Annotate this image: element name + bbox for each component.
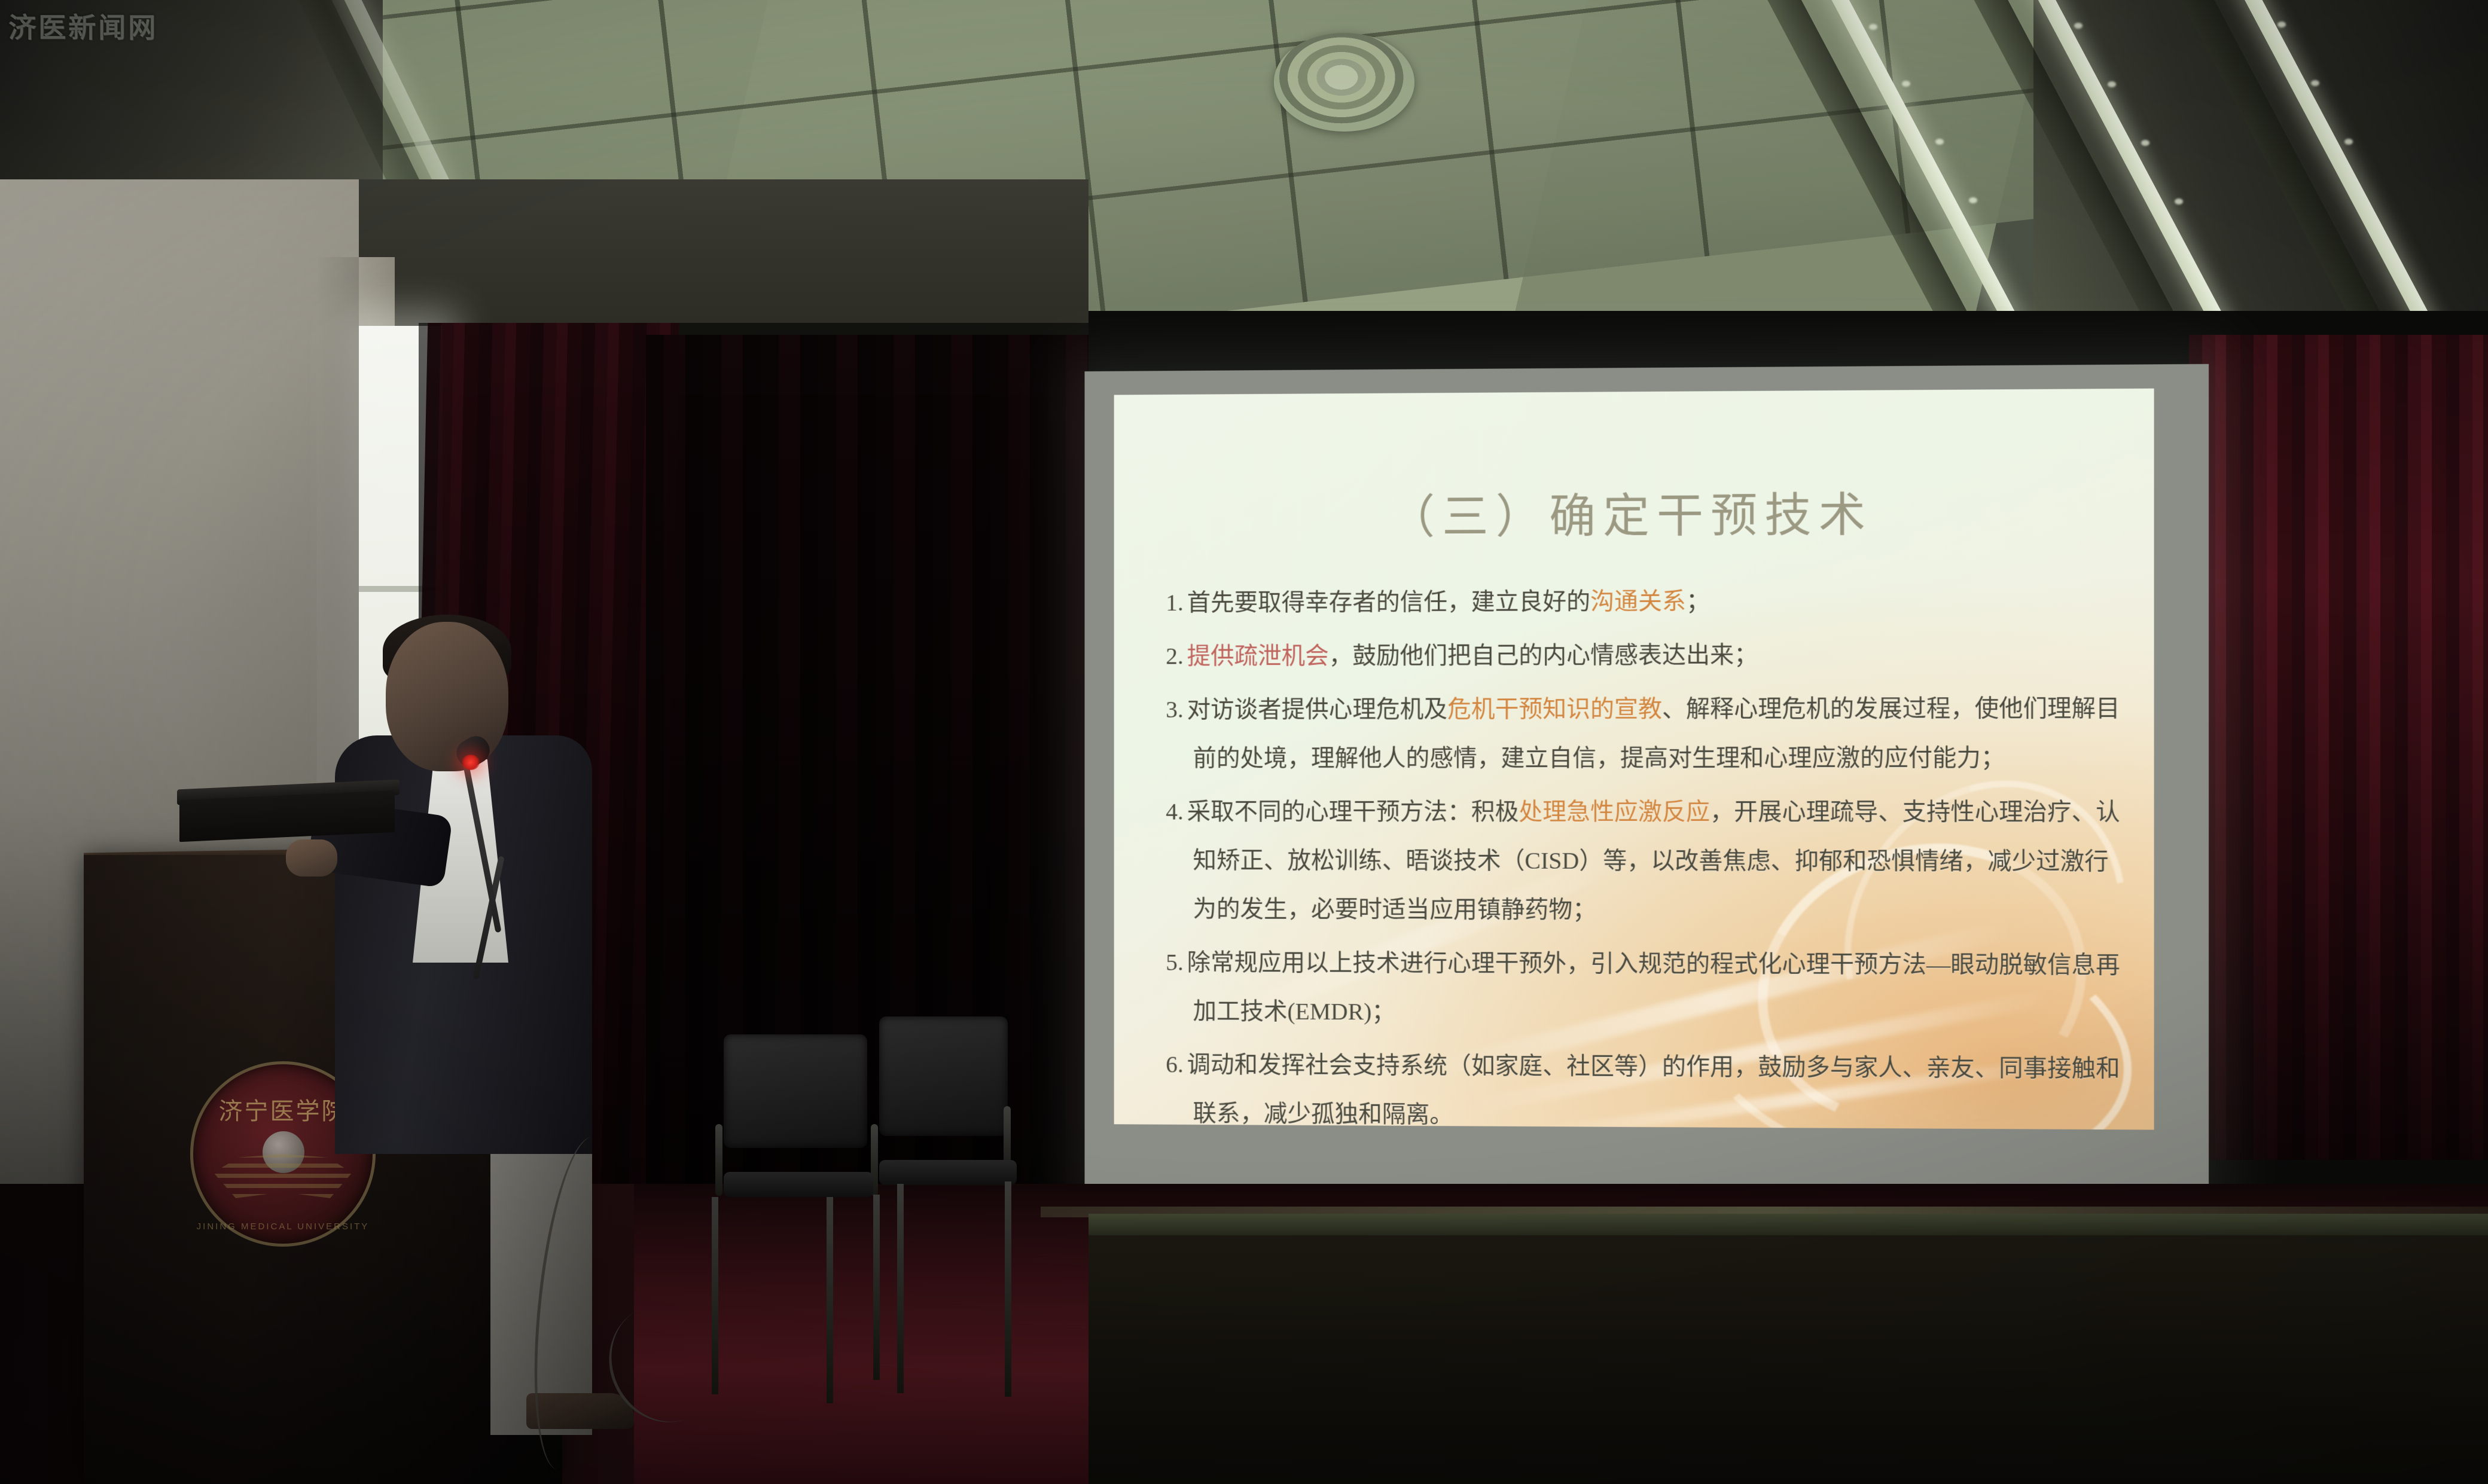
slide-text: 调动和发挥社会支持系统（如家庭、社区等）的作用，鼓励多与家人、亲友、同事接触和 [1187,1051,2120,1082]
slide-bullet-line: 知矫正、放松训练、晤谈技术（CISD）等，以改善焦虑、抑郁和恐惧情绪，减少过激行 [1166,836,2123,886]
slide-bullet-number: 4. [1166,798,1184,825]
slide-bullet-line: 加工技术(EMDR)； [1166,987,2123,1039]
chair-leg [897,1184,904,1393]
slide-text: 前的处境，理解他人的感情，建立自信，提高对生理和心理应激的应付能力； [1193,744,2005,772]
chair-back [879,1016,1008,1136]
slide-bullet-number: 6. [1166,1051,1184,1078]
emblem-english-name: JINING MEDICAL UNIVERSITY [193,1222,373,1232]
slide-text: 、解释心理危机的发展过程，使他们理解目 [1662,695,2120,722]
slide-bullet-number: 2. [1166,643,1184,670]
projection-screen-surface: （三）确定干预技术 1.首先要取得幸存者的信任，建立良好的沟通关系；2.提供疏泄… [1114,389,2154,1130]
slide-bullet-line: 为的发生，必要时适当应用镇静药物； [1166,885,2123,936]
projection-screen-frame: （三）确定干预技术 1.首先要取得幸存者的信任，建立良好的沟通关系；2.提供疏泄… [1085,364,2209,1208]
chair-back [724,1034,867,1148]
slide-bullet-line: 3.对访谈者提供心理危机及危机干预知识的宣教、解释心理危机的发展过程，使他们理解… [1166,684,2123,734]
slide-bullet: 6.调动和发挥社会支持系统（如家庭、社区等）的作用，鼓励多与家人、亲友、同事接触… [1166,1040,2123,1130]
hvac-diffuser-icon [1274,33,1414,132]
ceiling-shadow-right [2033,0,2488,311]
slide-bullet-line: 4.采取不同的心理干预方法：积极处理急性应激反应，开展心理疏导、支持性心理治疗、… [1166,787,2123,837]
slide-bullet-line: 5.除常规应用以上技术进行心理干预外，引入规范的程式化心理干预方法—眼动脱敏信息… [1166,938,2123,990]
slide-bullet-line: 1.首先要取得幸存者的信任，建立良好的沟通关系； [1166,575,2123,627]
slide-bullet: 1.首先要取得幸存者的信任，建立良好的沟通关系； [1166,575,2123,627]
slide-text: 首先要取得幸存者的信任，建立良好的 [1187,588,1590,616]
stage-riser-top [1088,1214,2488,1235]
lecture-hall-photo: （三）确定干预技术 1.首先要取得幸存者的信任，建立良好的沟通关系；2.提供疏泄… [0,0,2488,1484]
slide-bullet-line: 前的处境，理解他人的感情，建立自信，提高对生理和心理应激的应付能力； [1166,733,2123,783]
slide-bullet: 3.对访谈者提供心理危机及危机干预知识的宣教、解释心理危机的发展过程，使他们理解… [1166,684,2123,783]
slide-title: （三）确定干预技术 [1114,477,2154,548]
slide-bullet-number: 1. [1166,589,1184,616]
slide-bullet: 4.采取不同的心理干预方法：积极处理急性应激反应，开展心理疏导、支持性心理治疗、… [1166,787,2123,936]
slide-text-highlight: 沟通关系 [1590,588,1686,615]
slide-text-highlight: 提供疏泄机会 [1187,642,1329,669]
slide-text: ； [1686,588,1710,615]
chair-leg [827,1197,833,1403]
slide-text: 知矫正、放松训练、晤谈技术（CISD）等，以改善焦虑、抑郁和恐惧情绪，减少过激行 [1193,847,2109,875]
slide-text: 采取不同的心理干预方法：积极 [1187,798,1519,825]
speaker-head [386,622,508,771]
slide-bullet-line: 2.提供疏泄机会，鼓励他们把自己的内心情感表达出来； [1166,630,2123,680]
slide-bullet-line: 联系，减少孤独和隔离。 [1166,1089,2123,1129]
slide-bullet-number: 3. [1166,696,1184,723]
chair-seat [879,1160,1017,1185]
slide-text: ，鼓励他们把自己的内心情感表达出来； [1329,642,1758,669]
microphone-led-indicator [462,755,480,770]
chair-seat [724,1172,873,1197]
slide-text: 加工技术(EMDR)； [1193,997,1395,1025]
slide-bullet-number: 5. [1166,949,1184,976]
slide-text: 联系，减少孤独和隔离。 [1193,1100,1453,1128]
slide-bullet: 2.提供疏泄机会，鼓励他们把自己的内心情感表达出来； [1166,630,2123,680]
slide-bullet: 5.除常规应用以上技术进行心理干预外，引入规范的程式化心理干预方法—眼动脱敏信息… [1166,938,2123,1039]
slide-text: ，开展心理疏导、支持性心理治疗、认 [1710,798,2120,825]
emblem-wings-icon [214,1154,352,1198]
slide-text-highlight: 危机干预知识的宣教 [1447,695,1662,722]
chair-leg [1005,1181,1011,1397]
stage-riser [1088,1214,2488,1484]
slide-bullet-line: 6.调动和发挥社会支持系统（如家庭、社区等）的作用，鼓励多与家人、亲友、同事接触… [1166,1040,2123,1094]
slide-bullet-list: 1.首先要取得幸存者的信任，建立良好的沟通关系；2.提供疏泄机会，鼓励他们把自己… [1166,575,2123,1129]
curtain-right-shadow [2189,335,2488,1160]
speaker-hand [286,839,337,877]
chair-arm [715,1124,722,1196]
chair-leg [873,1195,880,1380]
slide-text: 对访谈者提供心理危机及 [1187,695,1447,722]
slide-text: 除常规应用以上技术进行心理干预外，引入规范的程式化心理干预方法—眼动脱敏信息再 [1187,949,2120,978]
slide-text-highlight: 处理急性应激反应 [1519,798,1710,825]
watermark: 济医新闻网 [8,6,158,45]
slide-text: 为的发生，必要时适当应用镇静药物； [1193,896,1597,923]
